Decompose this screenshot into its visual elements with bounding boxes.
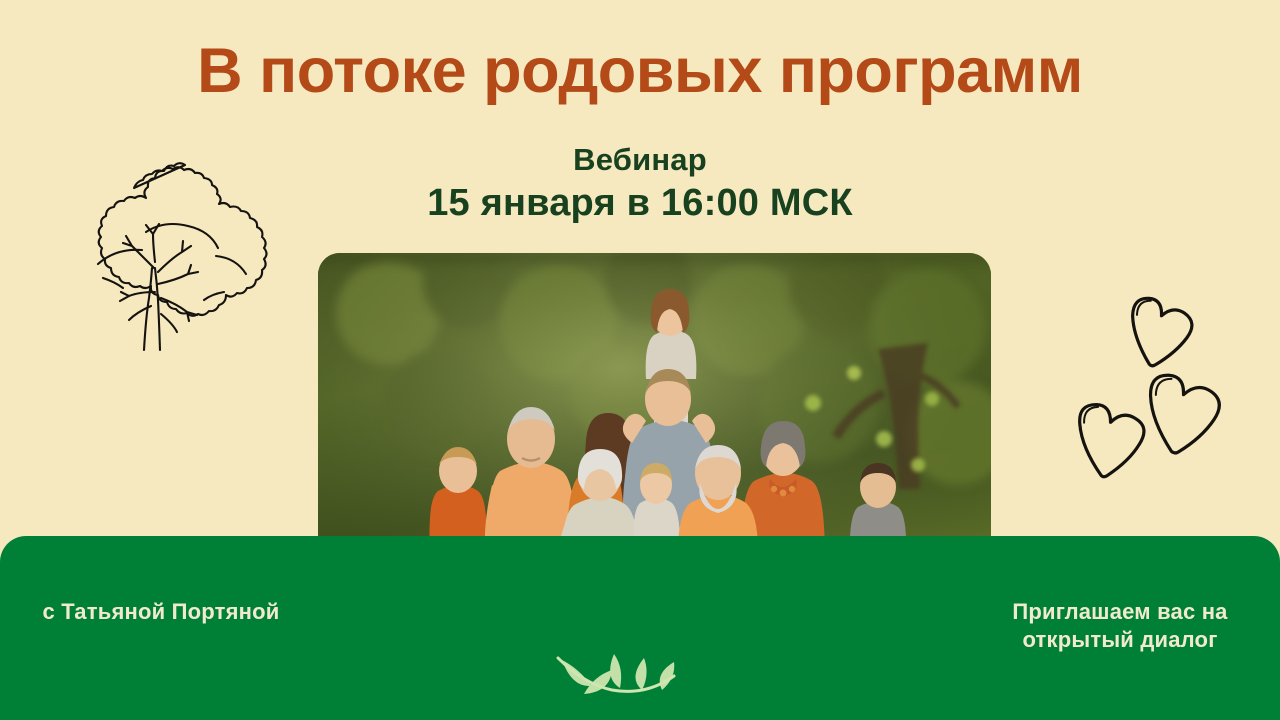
page-title: В потоке родовых программ: [0, 38, 1280, 104]
host-label: с Татьяной Портяной: [18, 598, 304, 626]
invite-label: Приглашаем вас на открытый диалог: [970, 598, 1270, 654]
tree-line-art-icon: [28, 152, 290, 388]
three-hearts-doodle-icon: [1078, 282, 1280, 500]
leaf-sprig-icon: [548, 648, 732, 710]
webinar-announcement-slide: В потоке родовых программ Вебинар 15 янв…: [0, 0, 1280, 720]
